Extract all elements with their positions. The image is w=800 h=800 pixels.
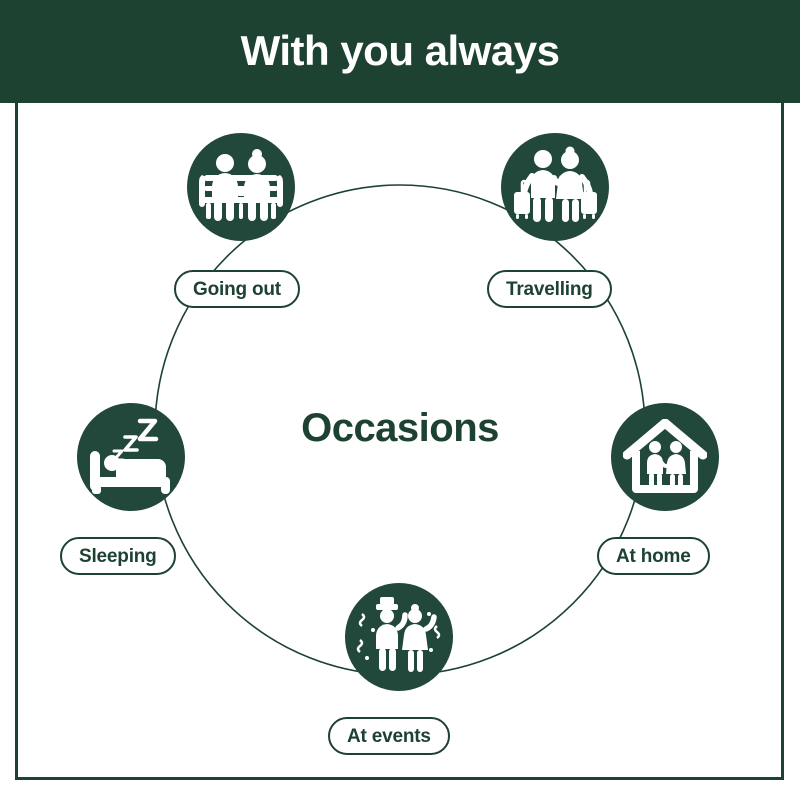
node-sleeping[interactable] <box>77 403 185 511</box>
label-going-out-text: Going out <box>193 280 281 299</box>
label-at-home[interactable]: At home <box>597 537 710 575</box>
node-going-out[interactable] <box>187 133 295 241</box>
header-bar: With you always <box>0 0 800 103</box>
house-with-couple-icon <box>623 419 707 495</box>
couple-with-luggage-icon <box>512 146 598 228</box>
person-sleeping-in-bed-icon <box>88 417 174 497</box>
label-going-out[interactable]: Going out <box>174 270 300 308</box>
couple-celebrating-icon <box>353 596 445 678</box>
label-at-events[interactable]: At events <box>328 717 450 755</box>
couple-on-bench-icon <box>198 147 284 227</box>
poster-root: With you always Occasions <box>0 0 800 800</box>
page-title: With you always <box>241 30 560 72</box>
label-at-events-text: At events <box>347 727 431 746</box>
node-at-home[interactable] <box>611 403 719 511</box>
label-sleeping-text: Sleeping <box>79 547 157 566</box>
label-travelling[interactable]: Travelling <box>487 270 612 308</box>
label-travelling-text: Travelling <box>506 280 593 299</box>
label-sleeping[interactable]: Sleeping <box>60 537 176 575</box>
label-at-home-text: At home <box>616 547 691 566</box>
node-travelling[interactable] <box>501 133 609 241</box>
node-at-events[interactable] <box>345 583 453 691</box>
